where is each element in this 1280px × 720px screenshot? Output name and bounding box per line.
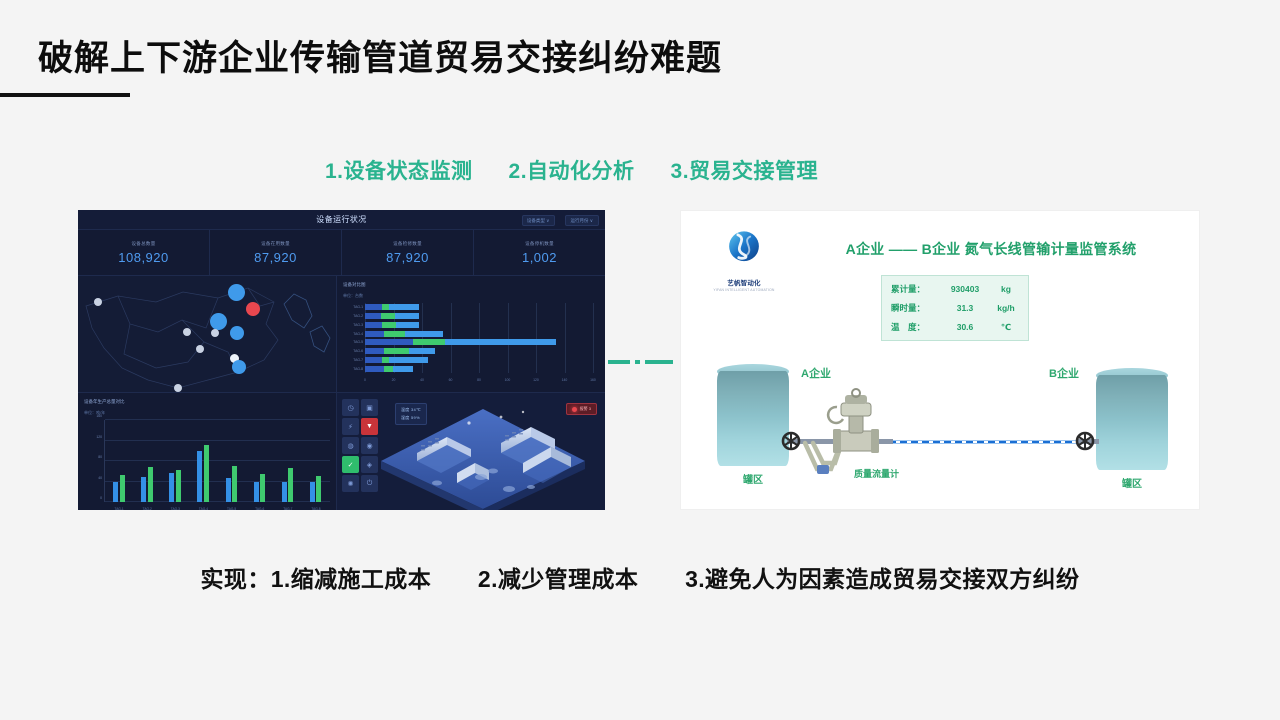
y-axis-tick-label: TAG-3 xyxy=(343,322,363,328)
chart-bar xyxy=(197,451,202,502)
chart-bar-group[interactable] xyxy=(113,475,125,502)
chart-bar-segment xyxy=(389,304,419,310)
chart-bar-segment xyxy=(384,348,410,354)
y-axis-tick-label: TAG-2 xyxy=(343,313,363,319)
control-valve-icon xyxy=(828,389,879,453)
chart-bar-segment xyxy=(365,331,384,337)
chart-bar-segment xyxy=(365,366,384,372)
chart-bar-segment xyxy=(382,322,396,328)
x-axis-tick-label: 60 xyxy=(449,378,453,382)
map-marker[interactable] xyxy=(183,328,191,336)
environment-stats-overlay: 温度 34℃ 湿度 59% xyxy=(395,403,427,425)
map-marker[interactable] xyxy=(230,326,244,340)
x-axis-tick-label: TAG-4 xyxy=(199,507,208,510)
x-axis-tick-label: TAG-8 xyxy=(311,507,320,510)
x-axis-tick-label: TAG-6 xyxy=(255,507,264,510)
bolt-icon[interactable]: ⚡ xyxy=(342,418,359,435)
env-stat-humidity: 湿度 59% xyxy=(401,415,421,421)
chip-icon[interactable]: ▣ xyxy=(361,399,378,416)
map-marker[interactable] xyxy=(196,345,204,353)
chart-bar-segment xyxy=(413,339,444,345)
chart-gridline xyxy=(593,303,594,373)
dashboard-header: 设备运行状况 设备类型 ∨ 运行月份 ∨ xyxy=(78,210,605,230)
kpi-card-total: 设备总数量 108,920 xyxy=(78,230,210,275)
chart-bar-segment xyxy=(382,304,389,310)
kpi-card-active: 设备在用数量 87,920 xyxy=(210,230,342,275)
scada-hmi-screenshot: 艺帆智动化 YIFAN INTELLIGENT AUTOMATION A企业 —… xyxy=(680,210,1200,510)
chart-plot-area: 020406080100120140160TAG-1TAG-2TAG-3TAG-… xyxy=(365,303,593,381)
logo-company-name: 艺帆智动化 xyxy=(707,277,781,287)
chart-bar xyxy=(232,466,237,502)
kpi-label: 设备检修数量 xyxy=(393,241,422,247)
company-logo: 艺帆智动化 YIFAN INTELLIGENT AUTOMATION xyxy=(707,227,781,292)
chart-bar xyxy=(310,482,315,503)
gauge-icon[interactable]: ◍ xyxy=(342,437,359,454)
chart-bar xyxy=(254,482,259,503)
readout-row-temperature: 温 度： 30.6 ℃ xyxy=(891,321,1019,333)
chart-bar-row[interactable]: TAG-7 xyxy=(365,357,593,363)
x-axis-tick-label: TAG-3 xyxy=(171,507,180,510)
chart-title: 设备对比图 xyxy=(343,282,597,288)
map-marker[interactable] xyxy=(174,384,182,392)
chart-gridline xyxy=(105,460,330,461)
feature-item-3: 3.贸易交接管理 xyxy=(671,155,819,185)
readout-label: 累计量： xyxy=(891,283,937,295)
readout-value: 31.3 xyxy=(937,303,993,313)
fan-icon[interactable]: ✺ xyxy=(342,475,359,492)
x-axis-tick-label: 140 xyxy=(562,378,568,382)
chart-plot-area: 04080120160TAG-1TAG-2TAG-3TAG-4TAG-5TAG-… xyxy=(104,420,330,502)
kpi-row: 设备总数量 108,920 设备在用数量 87,920 设备检修数量 87,92… xyxy=(78,230,605,276)
readout-unit: kg/h xyxy=(993,303,1019,313)
measurement-readout-panel: 累计量： 930403 kg 瞬时量： 31.3 kg/h 温 度： 30.6 … xyxy=(881,275,1029,341)
chart-bar-group[interactable] xyxy=(169,470,181,502)
chart-bar-segment xyxy=(365,339,413,345)
flowmeter-label: 质量流量计 xyxy=(854,467,899,480)
dashboard-bottom-row: 设备年生产总量对比 单位：吨/年 04080120160TAG-1TAG-2TA… xyxy=(78,393,605,510)
env-stat-label: 温度 xyxy=(401,407,410,412)
x-axis-tick-label: TAG-1 xyxy=(114,507,123,510)
chart-bar xyxy=(176,470,181,502)
x-axis-tick-label: 80 xyxy=(477,378,481,382)
chart-bar xyxy=(226,478,231,502)
temp-icon[interactable]: ◈ xyxy=(361,456,378,473)
chart-gridline xyxy=(105,481,330,482)
chart-bar-group[interactable] xyxy=(197,445,209,502)
y-axis-tick-label: TAG-6 xyxy=(343,348,363,354)
map-marker[interactable] xyxy=(232,360,246,374)
chart-bar-group[interactable] xyxy=(310,476,322,502)
chart-bar xyxy=(288,468,293,502)
y-axis-tick-label: 160 xyxy=(85,414,102,418)
logo-company-tagline: YIFAN INTELLIGENT AUTOMATION xyxy=(707,288,781,292)
slide-root: 破解上下游企业传输管道贸易交接纠纷难题 1.设备状态监测 2.自动化分析 3.贸… xyxy=(0,0,1280,720)
control-icon-grid[interactable]: ◷▣⚡▼◍◉✓◈✺⏻ xyxy=(342,399,378,492)
chart-bar xyxy=(316,476,321,502)
x-axis-tick-label: 120 xyxy=(533,378,539,382)
equipment-dashboard-screenshot: 设备运行状况 设备类型 ∨ 运行月份 ∨ 设备总数量 108,920 设备在用数… xyxy=(78,210,605,510)
power-icon[interactable]: ⏻ xyxy=(361,475,378,492)
y-axis-tick-label: TAG-5 xyxy=(343,339,363,345)
title-underline-rule xyxy=(0,93,130,97)
chart-bar-segment xyxy=(365,313,381,319)
dashboard-filters: 设备类型 ∨ 运行月份 ∨ xyxy=(522,215,599,226)
x-axis-tick-label: 100 xyxy=(505,378,511,382)
chart-bar xyxy=(120,475,125,502)
map-marker[interactable] xyxy=(246,302,260,316)
feature-list: 1.设备状态监测 2.自动化分析 3.贸易交接管理 xyxy=(325,155,818,185)
x-axis-tick-label: TAG-5 xyxy=(227,507,236,510)
env-stat-label: 湿度 xyxy=(401,415,410,420)
chart-bar-segment xyxy=(384,331,405,337)
chart-bar xyxy=(169,473,174,502)
filter-device-type[interactable]: 设备类型 ∨ xyxy=(522,215,556,226)
readout-unit: kg xyxy=(993,284,1019,294)
meter-sensor-box xyxy=(817,465,829,474)
chart-gridline xyxy=(105,501,330,502)
chart-bar-segment xyxy=(382,357,389,363)
chart-bar-segment xyxy=(365,322,382,328)
env-stat-temperature: 温度 34℃ xyxy=(401,407,421,413)
panel-connector-line xyxy=(608,360,678,364)
dashboard-middle-row: 设备对比图 单位：台数 020406080100120140160TAG-1TA… xyxy=(78,276,605,393)
x-axis-tick-label: TAG-2 xyxy=(143,507,152,510)
chart-bar xyxy=(113,482,118,503)
check-icon[interactable]: ✓ xyxy=(342,456,359,473)
feature-item-2: 2.自动化分析 xyxy=(509,155,635,185)
map-marker[interactable] xyxy=(94,298,102,306)
panels-wrapper: 设备运行状况 设备类型 ∨ 运行月份 ∨ 设备总数量 108,920 设备在用数… xyxy=(0,210,1280,510)
x-axis-tick-label: 0 xyxy=(364,378,366,382)
clock-icon[interactable]: ◷ xyxy=(342,399,359,416)
readout-label: 瞬时量： xyxy=(891,302,937,314)
dashboard-title: 设备运行状况 xyxy=(316,214,366,225)
y-axis-tick-label: 40 xyxy=(85,476,102,480)
x-axis-tick-label: 20 xyxy=(392,378,396,382)
alarm-badge[interactable]: 报警 3 xyxy=(566,403,597,415)
kpi-label: 设备在用数量 xyxy=(261,241,290,247)
kpi-value: 87,920 xyxy=(254,250,297,265)
chart-title: 设备年生产总量对比 xyxy=(84,399,330,405)
chart-bar xyxy=(282,482,287,503)
chart-bar xyxy=(148,467,153,502)
chart-bar-segment xyxy=(445,339,556,345)
vertical-bar-chart: 设备年生产总量对比 单位：吨/年 04080120160TAG-1TAG-2TA… xyxy=(78,393,337,510)
pipeline-svg xyxy=(691,357,1181,507)
y-axis-tick-label: TAG-8 xyxy=(343,366,363,372)
hmi-canvas: 艺帆智动化 YIFAN INTELLIGENT AUTOMATION A企业 —… xyxy=(691,217,1189,501)
feature-item-1: 1.设备状态监测 xyxy=(325,155,473,185)
chart-bar-row[interactable]: TAG-6 xyxy=(365,348,593,354)
chart-bar-segment xyxy=(389,357,427,363)
chart-bar xyxy=(204,445,209,502)
alert-icon[interactable]: ▼ xyxy=(361,418,378,435)
y-axis-tick-label: TAG-4 xyxy=(343,331,363,337)
chart-bar-segment xyxy=(365,304,382,310)
kpi-value: 1,002 xyxy=(522,250,557,265)
kpi-label: 设备停机数量 xyxy=(525,241,554,247)
chart-bar-segment xyxy=(395,313,419,319)
connector-dot xyxy=(635,360,640,364)
chart-bar-group[interactable] xyxy=(226,466,238,502)
map-marker[interactable] xyxy=(211,329,219,337)
chart-subtitle: 单位：吨/年 xyxy=(84,410,330,416)
chart-bar-segment xyxy=(381,313,395,319)
chart-bar-group[interactable] xyxy=(141,467,153,502)
kpi-value: 108,920 xyxy=(118,250,169,265)
chart-bar-row[interactable]: TAG-3 xyxy=(365,322,593,328)
chart-bar-row[interactable]: TAG-2 xyxy=(365,313,593,319)
y-axis-tick-label: 0 xyxy=(85,496,102,500)
chart-bar-segment xyxy=(384,366,394,372)
chart-bar-segment xyxy=(396,322,419,328)
readout-label: 温 度： xyxy=(891,321,937,333)
map-marker[interactable] xyxy=(228,284,245,301)
drop-icon[interactable]: ◉ xyxy=(361,437,378,454)
x-axis-tick-label: 40 xyxy=(420,378,424,382)
y-axis-tick-label: 120 xyxy=(85,435,102,439)
globe-swirl-icon xyxy=(723,227,765,269)
chart-bar-row[interactable]: TAG-8 xyxy=(365,366,593,372)
connector-dash xyxy=(645,360,673,364)
chart-bar-group[interactable] xyxy=(282,468,294,502)
readout-unit: ℃ xyxy=(993,322,1019,333)
chart-bar-segment xyxy=(405,331,443,337)
kpi-card-stopped: 设备停机数量 1,002 xyxy=(474,230,605,275)
filter-month[interactable]: 运行月份 ∨ xyxy=(565,215,599,226)
kpi-value: 87,920 xyxy=(386,250,429,265)
hmi-system-title: A企业 —— B企业 氮气长线管输计量监管系统 xyxy=(801,239,1181,259)
chart-bar-segment xyxy=(365,357,382,363)
chart-bar-row[interactable]: TAG-1 xyxy=(365,304,593,310)
chart-bar-row[interactable]: TAG-5 xyxy=(365,339,593,345)
chart-gridline xyxy=(105,419,330,420)
x-axis-tick-label: TAG-7 xyxy=(283,507,292,510)
map-outline-svg xyxy=(78,276,337,392)
env-stat-value: 34℃ xyxy=(411,407,421,412)
chart-bar-segment xyxy=(409,348,435,354)
chart-bar xyxy=(260,474,265,502)
y-axis-tick-label: TAG-7 xyxy=(343,357,363,363)
alarm-label: 报警 3 xyxy=(580,406,591,412)
chart-bar-group[interactable] xyxy=(254,474,266,502)
chart-bar-row[interactable]: TAG-4 xyxy=(365,331,593,337)
alarm-indicator-icon xyxy=(572,407,577,412)
y-axis-tick-label: 80 xyxy=(85,455,102,459)
benefits-footer: 实现：1.缩减施工成本 2.减少管理成本 3.避免人为因素造成贸易交接双方纠纷 xyxy=(0,560,1280,594)
device-distribution-map[interactable] xyxy=(78,276,337,392)
connector-dash xyxy=(608,360,630,364)
x-axis-tick-label: 160 xyxy=(590,378,596,382)
readout-value: 930403 xyxy=(937,284,993,294)
isometric-facility-view[interactable]: ◷▣⚡▼◍◉✓◈✺⏻ 温度 34℃ 湿度 59% 报警 3 xyxy=(337,393,605,510)
y-axis-tick-label: TAG-1 xyxy=(343,304,363,310)
chart-gridline xyxy=(105,440,330,441)
readout-value: 30.6 xyxy=(937,322,993,332)
title-block: 破解上下游企业传输管道贸易交接纠纷难题 xyxy=(38,38,722,79)
chart-bar-segment xyxy=(365,348,384,354)
chart-subtitle: 单位：台数 xyxy=(343,293,597,299)
kpi-label: 设备总数量 xyxy=(132,241,156,247)
map-marker[interactable] xyxy=(210,313,227,330)
readout-row-total: 累计量： 930403 kg xyxy=(891,283,1019,295)
page-title: 破解上下游企业传输管道贸易交接纠纷难题 xyxy=(38,38,722,79)
horizontal-bar-chart: 设备对比图 单位：台数 020406080100120140160TAG-1TA… xyxy=(337,276,605,392)
kpi-card-maintenance: 设备检修数量 87,920 xyxy=(342,230,474,275)
env-stat-value: 59% xyxy=(411,415,420,420)
readout-row-instant: 瞬时量： 31.3 kg/h xyxy=(891,302,1019,314)
chart-bar-segment xyxy=(393,366,413,372)
chart-bar xyxy=(141,477,146,502)
pipeline-scene: 罐区 A企业 罐区 B企业 xyxy=(691,357,1189,507)
